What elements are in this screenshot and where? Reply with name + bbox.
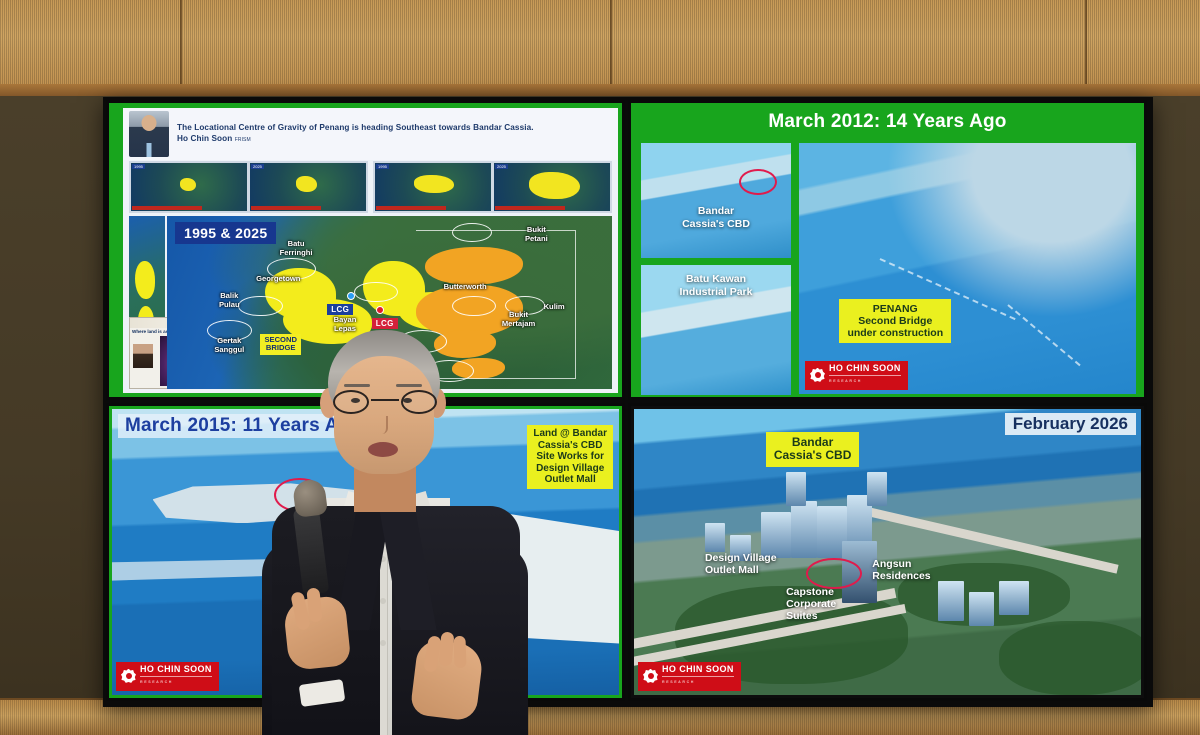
map-label-bukit-petani: Bukit Petani [487, 226, 585, 243]
map-thumbnail[interactable]: 1995 [375, 163, 491, 211]
aerial-photo-february-2026[interactable]: February 2026 Bandar Cassia's CBD Design… [634, 409, 1141, 695]
logo-subtitle: RESEARCH [829, 375, 901, 387]
eyeglass-lens-left [333, 390, 369, 414]
presenter-mouth [368, 442, 398, 457]
bridge-piling-line [1007, 304, 1081, 366]
logo-name: HO CHIN SOON [140, 664, 212, 674]
wall-seam [1085, 0, 1087, 92]
thumbnail-pair-right: 1995 2025 [373, 161, 612, 213]
shirt-button [380, 598, 386, 604]
map-highlight-circle [452, 223, 492, 242]
thumbnail-caption-bar [132, 206, 202, 210]
flower-logo-icon [810, 368, 825, 383]
map-label-balik-pulau: Balik Pulau [194, 292, 265, 309]
wall-seam [610, 0, 612, 92]
aerial-photo-penang-second-bridge[interactable]: PENANG Second Bridge under construction … [799, 143, 1136, 394]
slide-title-march-2012: March 2012: 14 Years Ago [631, 111, 1144, 133]
ho-chin-soon-logo: HO CHIN SOON RESEARCH [805, 361, 908, 390]
presentation-scene: The Locational Centre of Gravity of Pena… [0, 0, 1200, 735]
lcg-marker-dot-1995 [347, 292, 355, 300]
logo-subtitle: RESEARCH [140, 676, 212, 688]
display-panel-bottom-right[interactable]: February 2026 Bandar Cassia's CBD Design… [628, 403, 1147, 701]
presenter-nose [378, 416, 388, 434]
lcg-label-1995: LCG [327, 304, 353, 315]
map-thumbnail[interactable]: 1995 [131, 163, 247, 211]
yellow-callout-bandar-cassia-cbd: Bandar Cassia's CBD [766, 432, 860, 467]
thumbnail-year: 2025 [495, 164, 508, 169]
author-name: Ho Chin Soon [177, 134, 232, 143]
ho-chin-soon-logo: HO CHIN SOON RESEARCH [638, 662, 741, 691]
thumbnail-caption-bar [495, 206, 565, 210]
eyeglasses-icon [330, 390, 440, 414]
logo-subtitle: RESEARCH [662, 676, 734, 688]
logo-name: HO CHIN SOON [829, 363, 901, 373]
thumbnail-year: 2025 [251, 164, 264, 169]
inset-label-bandar-cassia-cbd: Bandar Cassia's CBD [641, 205, 791, 231]
wall-seam [180, 0, 182, 92]
presenter-figure [250, 330, 550, 735]
map-label-georgetown: Georgetown [212, 275, 346, 283]
slide-february-2026: February 2026 Bandar Cassia's CBD Design… [631, 406, 1144, 698]
yellow-callout-second-bridge: PENANG Second Bridge under construction [839, 299, 951, 343]
lcg-label-2025: LCG [372, 318, 398, 329]
headline-text: The Locational Centre of Gravity of Pena… [177, 123, 534, 132]
map-thumbnail[interactable]: 2025 [250, 163, 366, 211]
slide-headline: The Locational Centre of Gravity of Pena… [177, 123, 534, 144]
logo-text: HO CHIN SOON RESEARCH [829, 364, 901, 386]
slide-date-february-2026: February 2026 [1005, 413, 1136, 435]
presenter-eyebrow-right [396, 384, 422, 387]
map-thumbnail[interactable]: 2025 [494, 163, 610, 211]
red-highlight-circle [739, 169, 777, 195]
author-portrait [129, 111, 169, 157]
thumbnail-year: 1995 [376, 164, 389, 169]
inset-label-batu-kawan: Batu Kawan Industrial Park [641, 273, 791, 299]
thumbnail-year: 1995 [132, 164, 145, 169]
inset-photo-bandar-cassia-cbd[interactable]: Bandar Cassia's CBD [641, 143, 791, 258]
flower-logo-icon [643, 669, 658, 684]
label-angsun-residences: Angsun Residences [872, 558, 930, 582]
slide-header: The Locational Centre of Gravity of Pena… [123, 108, 618, 160]
thumbnail-pair-left: 1995 2025 [129, 161, 368, 213]
shirt-button [380, 640, 386, 646]
thumbnail-caption-bar [376, 206, 446, 210]
ho-chin-soon-logo: HO CHIN SOON RESEARCH [116, 662, 219, 691]
label-capstone-corporate-suites: Capstone Corporate Suites [786, 586, 836, 622]
logo-name: HO CHIN SOON [662, 664, 734, 674]
map-label-bukit-mertajam: Bukit Mertajam [470, 311, 568, 328]
finger [453, 636, 466, 668]
flower-logo-icon [121, 669, 136, 684]
clipping-photo [133, 344, 153, 368]
eyeglass-lens-right [401, 390, 437, 414]
map-label-batu-ferringhi: Batu Ferringhi [247, 240, 345, 257]
thumbnail-caption-bar [251, 206, 321, 210]
author-credential: FRISM [235, 137, 251, 143]
eyeglass-bridge [371, 399, 399, 401]
microphone-head-icon [292, 478, 328, 518]
thumbnail-strip: 1995 2025 1995 [129, 161, 612, 213]
display-panel-top-right[interactable]: March 2012: 14 Years Ago Bandar Cassia's… [628, 100, 1147, 400]
slide-march-2012: March 2012: 14 Years Ago Bandar Cassia's… [631, 103, 1144, 397]
red-highlight-circle [806, 558, 862, 589]
presenter-eyebrow-left [344, 384, 370, 387]
inset-photo-batu-kawan[interactable]: Batu Kawan Industrial Park [641, 265, 791, 395]
logo-text: HO CHIN SOON RESEARCH [662, 665, 734, 687]
map-label-butterworth: Butterworth [407, 283, 523, 291]
label-design-village-outlet-mall: Design Village Outlet Mall [705, 552, 777, 576]
logo-text: HO CHIN SOON RESEARCH [140, 665, 212, 687]
